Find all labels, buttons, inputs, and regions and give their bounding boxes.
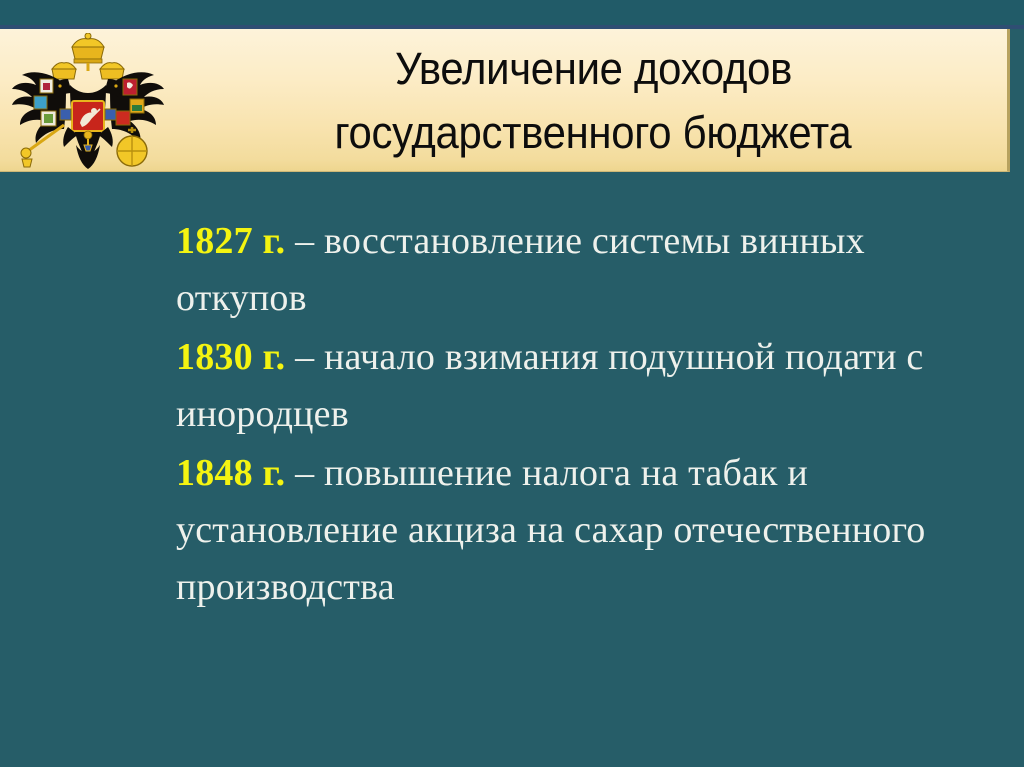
title-banner: Увеличение доходов государственного бюдж… <box>0 29 1010 172</box>
title-banner-inner: Увеличение доходов государственного бюдж… <box>0 29 1007 171</box>
bullet-year: 1848 г. <box>176 452 285 494</box>
bullet-text: – повышение налога на табак и установлен… <box>176 452 926 608</box>
title-line-1: Увеличение доходов <box>394 37 791 101</box>
title-line-2: государственного бюджета <box>335 101 852 165</box>
top-teal-band <box>0 0 1024 25</box>
bullet-year: 1830 г. <box>176 336 285 378</box>
slide-body: 1827 г. – восстановление системы винных … <box>176 213 996 616</box>
slide-title: Увеличение доходов государственного бюдж… <box>180 33 1006 169</box>
list-item: 1830 г. – начало взимания подушной подат… <box>176 329 996 443</box>
list-item: 1827 г. – восстановление системы винных … <box>176 213 996 327</box>
bullet-text: – начало взимания подушной подати с инор… <box>176 336 923 435</box>
list-item: 1848 г. – повышение налога на табак и ус… <box>176 445 996 616</box>
presentation-slide: Увеличение доходов государственного бюдж… <box>0 0 1024 767</box>
coat-of-arms-icon <box>8 33 168 171</box>
bullet-year: 1827 г. <box>176 220 285 262</box>
